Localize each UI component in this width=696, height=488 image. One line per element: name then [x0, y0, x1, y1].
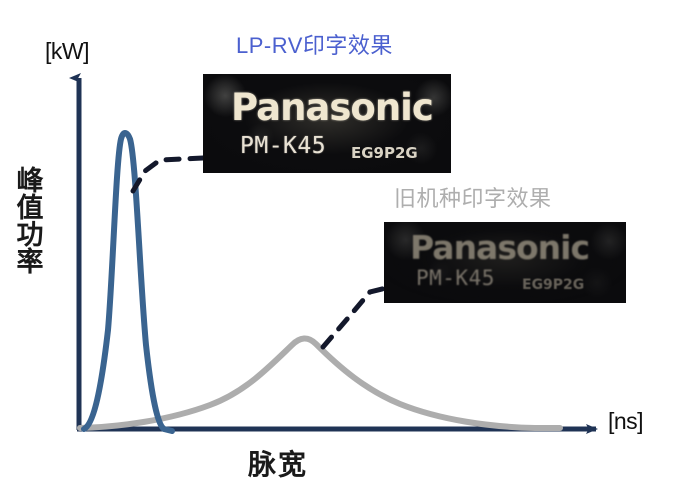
product-photo-old: Panasonic PM-K45 EG9P2G	[384, 222, 626, 303]
y-axis-title-char: 值	[8, 195, 52, 222]
callout-caption-new: LP-RV印字效果	[236, 28, 393, 60]
x-axis-unit-label: [ns]	[608, 408, 643, 435]
y-axis-unit-label: [kW]	[45, 38, 89, 65]
plate-model-text: PM-K45	[240, 133, 326, 159]
plate-brand-text: Panasonic	[231, 86, 433, 129]
plate-lot-code-text: EG9P2G	[522, 277, 584, 293]
y-axis-title-char: 峰	[8, 168, 52, 195]
leader-line-new	[133, 158, 203, 191]
y-axis-title: 峰 值 功 率	[8, 168, 52, 276]
product-photo-new: Panasonic PM-K45 EG9P2G	[203, 74, 451, 173]
plate-brand-text: Panasonic	[410, 228, 589, 267]
callout-caption-old: 旧机种印字效果	[394, 181, 552, 213]
curve-lp-rv	[84, 133, 172, 431]
plate-model-text: PM-K45	[416, 266, 495, 290]
y-axis-title-char: 功	[8, 222, 52, 249]
leader-line-old	[323, 288, 386, 347]
x-axis-title: 脉宽	[248, 443, 308, 483]
plate-lot-code-text: EG9P2G	[351, 144, 418, 162]
chart-canvas: [kW] [ns] 峰 值 功 率 脉宽 LP-RV印字效果 旧机种印字效果 P…	[0, 0, 696, 488]
y-axis-title-char: 率	[8, 249, 52, 276]
